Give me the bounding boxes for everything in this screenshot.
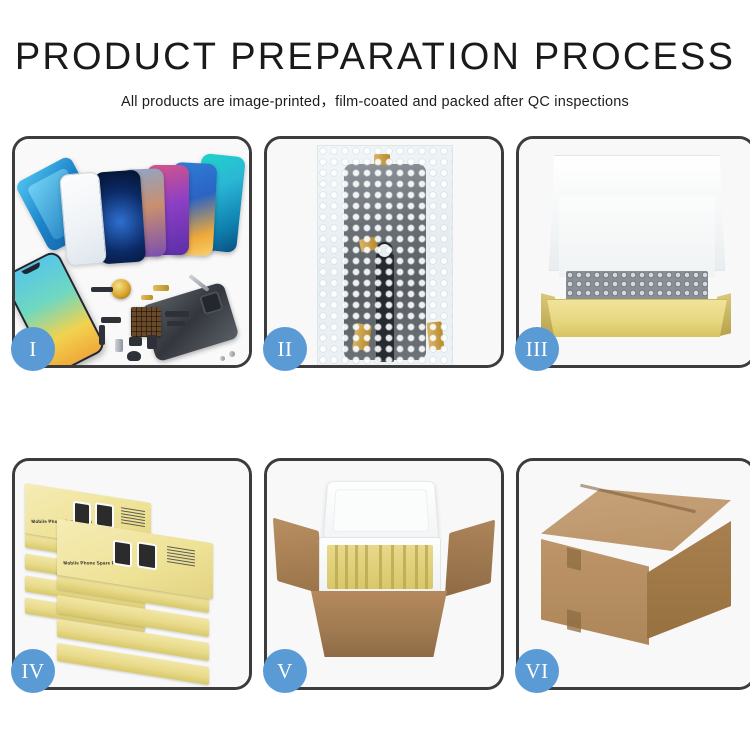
box-thumb-2b [139,544,155,569]
step-badge-4: IV [11,649,55,693]
step-badge-2: II [263,327,307,371]
carton-flap-left [273,518,323,595]
gold-coil-part [111,279,131,299]
box-thumb-1b [97,504,112,526]
part-strip-3 [141,295,153,300]
bubble-wrap-bag-graphic [317,145,453,365]
page-subtitle: All products are image-printed，film-coat… [0,90,750,111]
part-strip-8 [115,339,123,352]
step-image-6 [519,461,750,687]
part-strip-9 [129,337,142,346]
screen-protector-graphic [59,171,107,266]
yellow-box-body [547,299,727,337]
screw-graphic-2 [220,356,225,361]
step-badge-6: VI [515,649,559,693]
phones-and-parts-scene [15,139,249,365]
step-panel-1: I [12,136,252,368]
step-badge-5: V [263,649,307,693]
part-strip-10 [147,335,157,349]
step-image-4: Mobile Phone Spare Parts Mobile Phone Sp… [15,461,249,687]
process-step-grid: I II [12,136,738,690]
styrofoam-lid-graphic [323,481,440,541]
carton-tape-upper [567,547,581,570]
step-panel-4: Mobile Phone Spare Parts Mobile Phone Sp… [12,458,252,690]
step-badge-1: I [11,327,55,371]
part-strip-6 [165,311,189,317]
foam-lining-graphic [559,197,715,277]
step-badge-3: III [515,327,559,371]
box-spec-lines-2 [167,546,195,568]
part-strip-2 [153,285,169,291]
step-panel-2: II [264,136,504,368]
packed-yellow-boxes [327,545,433,589]
bubble-texture [318,146,452,365]
box-thumb-2a [115,542,130,565]
carton-front-face [541,539,649,645]
part-strip-7 [167,321,185,326]
step-panel-3: III [516,136,750,368]
box-stack-graphic: Mobile Phone Spare Parts Mobile Phone Sp… [23,483,245,679]
cardboard-carton-graphic [311,591,447,657]
step-image-5 [267,461,501,687]
part-strip-4 [101,317,121,323]
box-spec-lines-1 [121,507,145,529]
chip-grid-part [131,307,161,337]
step-image-2 [267,139,501,365]
step-panel-6: VI [516,458,750,690]
screw-graphic-1 [229,351,235,357]
carton-flap-right [445,520,495,597]
part-strip-11 [127,351,141,361]
step-panel-5: V [264,458,504,690]
page-title: PRODUCT PREPARATION PROCESS [0,38,750,78]
step-image-1 [15,139,249,365]
carton-tape-lower [567,609,581,632]
part-strip-1 [91,287,113,292]
page-header: PRODUCT PREPARATION PROCESS All products… [0,0,750,111]
step-image-3 [519,139,750,365]
product-preparation-page: PRODUCT PREPARATION PROCESS All products… [0,0,750,750]
part-strip-5 [99,325,105,345]
